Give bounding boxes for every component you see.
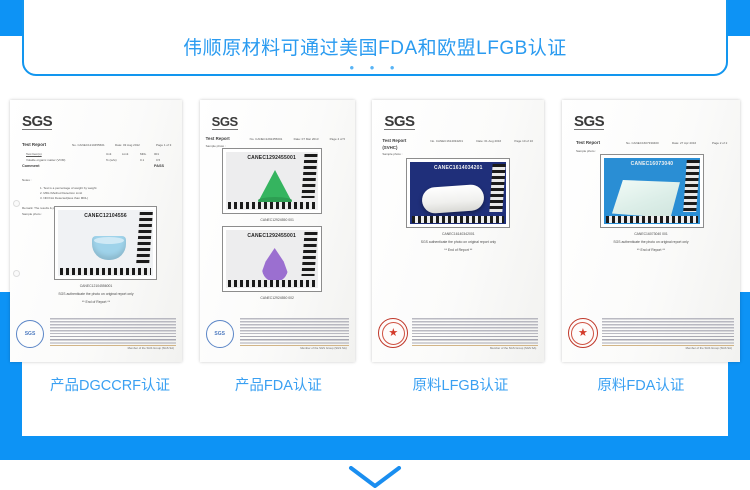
certificate-footer: SGS Member of the SGS Group (SGS SA) xyxy=(16,316,176,350)
photo-caption-1: CANEC12924550 001 xyxy=(200,218,355,222)
conclusion-label: Comment xyxy=(22,164,40,168)
sgs-stamp-blue: SGS xyxy=(206,320,234,348)
bottom-blue-band xyxy=(0,436,750,460)
report-label: Test Report xyxy=(206,136,230,141)
report-date: Date: 27 Apr 2016 xyxy=(672,141,696,145)
footer-address-lines xyxy=(412,336,538,344)
sample-object-pillow xyxy=(421,184,485,214)
footer-member-text: Member of the SGS Group (SGS SA) xyxy=(490,346,536,350)
sample-object-sheet xyxy=(612,180,680,218)
authenticity-note: SGS authenticate the photo on original r… xyxy=(10,292,182,296)
edge-bar-top-left xyxy=(0,0,22,36)
table-col-1: Unit xyxy=(106,152,111,156)
table-col-4: 001 xyxy=(154,152,159,156)
note-item: 2. MDL=Method Detection Limit xyxy=(40,191,82,195)
footer-member-text: Member of the SGS Group (SGS SA) xyxy=(128,346,174,350)
footer-text-lines xyxy=(240,318,349,334)
sample-photo: CANEC16073040 xyxy=(600,154,704,228)
sgs-logo: SGS xyxy=(574,114,604,130)
punch-hole xyxy=(13,270,20,277)
caption-certificate-4: 原料FDA认证 xyxy=(567,374,740,398)
stamp-inner-ring xyxy=(571,322,594,345)
sample-photo-1: CANEC1292455001 xyxy=(222,148,322,214)
photo-caption: CANEC16140342001 xyxy=(372,232,544,236)
table-col-2: Limit xyxy=(122,152,128,156)
stamp-inner-ring xyxy=(382,322,405,345)
table-cell-result: 0.5 xyxy=(156,158,160,162)
footer-address-lines xyxy=(50,336,176,344)
authenticity-note: SGS authenticate the photo on original r… xyxy=(372,240,544,244)
notes-heading: Notes : xyxy=(22,178,32,182)
report-no: No. CANEC1614034201 xyxy=(430,139,463,143)
sample-photo-2: CANEC1292455001 xyxy=(222,226,322,292)
report-no: No. CANEC1292455001 xyxy=(250,137,283,141)
report-date: Date: 03 Aug 2012 xyxy=(115,143,140,147)
ruler-vertical xyxy=(490,164,506,212)
header-subtitle: 伟顺原材料可通过美国FDA和欧盟LFGB认证 xyxy=(0,33,750,60)
section-label: Sample photo : xyxy=(22,212,42,216)
sgs-logo: SGS xyxy=(384,114,414,130)
report-page: Page 1 of 3 xyxy=(156,143,171,147)
note-item: 1. Test is a percentage of weight by wei… xyxy=(40,186,96,190)
table-cell-unit: % (w/w) xyxy=(106,158,117,162)
footer-member-text: Member of the SGS Group (SGS SA) xyxy=(686,346,732,350)
certificate-captions: 产品DGCCRF认证 产品FDA认证 原料LFGB认证 原料FDA认证 xyxy=(0,374,750,398)
footer-address-lines xyxy=(602,336,734,344)
report-sub-label: (SVHC) xyxy=(382,145,397,150)
caption-certificate-1: 产品DGCCRF认证 xyxy=(10,374,205,398)
photo-caption: CANEC16073040 001 xyxy=(562,232,740,236)
footer-text-lines xyxy=(412,318,538,334)
footer-text-lines xyxy=(50,318,176,334)
section-label: Sample photo : xyxy=(382,152,402,156)
conclusion-value: PASS xyxy=(154,164,164,168)
ruler-vertical xyxy=(301,232,317,276)
end-of-report-note: ** End of Report ** xyxy=(372,248,544,252)
certificate-card-3[interactable]: SGS Test Report (SVHC) No. CANEC16140342… xyxy=(372,100,544,362)
ruler-horizontal xyxy=(228,202,316,209)
ruler-horizontal xyxy=(228,280,316,287)
sample-photo: CANEC1614034201 xyxy=(406,158,510,228)
report-date: Date: 01 Aug 2016 xyxy=(476,139,501,143)
sample-photo: CANEC12104556 xyxy=(54,206,157,280)
ruler-horizontal xyxy=(60,268,151,275)
report-date: Date: 07 Mar 2013 xyxy=(294,137,319,141)
caption-certificate-2: 产品FDA认证 xyxy=(205,374,378,398)
header-dots-decoration: • • • xyxy=(0,60,750,75)
report-no: No. CANEC1210455601 xyxy=(72,143,105,147)
authenticity-note: SGS authenticate the photo on original r… xyxy=(562,240,740,244)
certificate-card-1[interactable]: SGS Test Report No. CANEC1210455601 Date… xyxy=(10,100,182,362)
caption-certificate-3: 原料LFGB认证 xyxy=(378,374,568,398)
certificate-footer: ★ Member of the SGS Group (SGS SA) xyxy=(378,316,538,350)
certificate-footer: ★ Member of the SGS Group (SGS SA) xyxy=(568,316,734,350)
report-page: Page 10 of 10 xyxy=(514,139,533,143)
edge-bar-top-right xyxy=(728,0,750,36)
report-label: Test Report xyxy=(22,142,46,147)
sample-object-drop xyxy=(262,248,288,282)
footer-text-lines xyxy=(602,318,734,334)
report-label: Test Report xyxy=(576,140,600,145)
cnas-stamp-red: ★ xyxy=(568,318,598,348)
certificate-list: SGS Test Report No. CANEC1210455601 Date… xyxy=(0,100,750,370)
ruler-vertical xyxy=(683,160,700,212)
ruler-horizontal xyxy=(412,216,504,223)
certificate-footer: SGS Member of the SGS Group (SGS SA) xyxy=(206,316,349,350)
bottom-white-strip xyxy=(22,410,728,436)
footer-address-lines xyxy=(240,336,349,344)
table-cell-mdl: 0.1 xyxy=(140,158,144,162)
footer-member-text: Member of the SGS Group (SGS SA) xyxy=(300,346,346,350)
ruler-vertical xyxy=(136,212,153,264)
report-no: No. CANEC1607330400 xyxy=(626,141,659,145)
sample-object-bowl-rim xyxy=(94,237,124,244)
table-col-3: MDL xyxy=(140,152,146,156)
table-col-0: Test Item(s) xyxy=(26,152,42,156)
table-cell-name: Volatile organic matter (VOM) xyxy=(26,158,65,162)
sgs-logo: SGS xyxy=(212,114,238,130)
report-page: Page 4 of 5 xyxy=(330,137,345,141)
photo-caption: CANEC12104556001 xyxy=(10,284,182,288)
end-of-report-note: ** End of Report ** xyxy=(562,248,740,252)
section-label: Sample photo : xyxy=(576,149,596,153)
page-root: 权威认证资质 伟顺原材料可通过美国FDA和欧盟LFGB认证 • • • SGS … xyxy=(0,0,750,479)
note-item: 3. ND=Not Detected(less than MDL) xyxy=(40,196,88,200)
sgs-stamp-blue: SGS xyxy=(16,320,44,348)
certificate-card-2[interactable]: SGS Test Report No. CANEC1292455001 Date… xyxy=(200,100,355,362)
ruler-vertical xyxy=(301,154,317,198)
ruler-horizontal xyxy=(606,216,698,223)
sgs-logo: SGS xyxy=(22,114,52,130)
report-label: Test Report xyxy=(382,138,406,143)
certificate-card-4[interactable]: SGS Test Report No. CANEC1607330400 Date… xyxy=(562,100,740,362)
cnas-stamp-red: ★ xyxy=(378,318,408,348)
end-of-report-note: ** End of Report ** xyxy=(10,300,182,304)
punch-hole xyxy=(13,200,20,207)
report-page: Page 2 of 2 xyxy=(712,141,727,145)
photo-caption-2: CANEC12924550 002 xyxy=(200,296,355,300)
chevron-down-icon[interactable] xyxy=(345,466,405,490)
